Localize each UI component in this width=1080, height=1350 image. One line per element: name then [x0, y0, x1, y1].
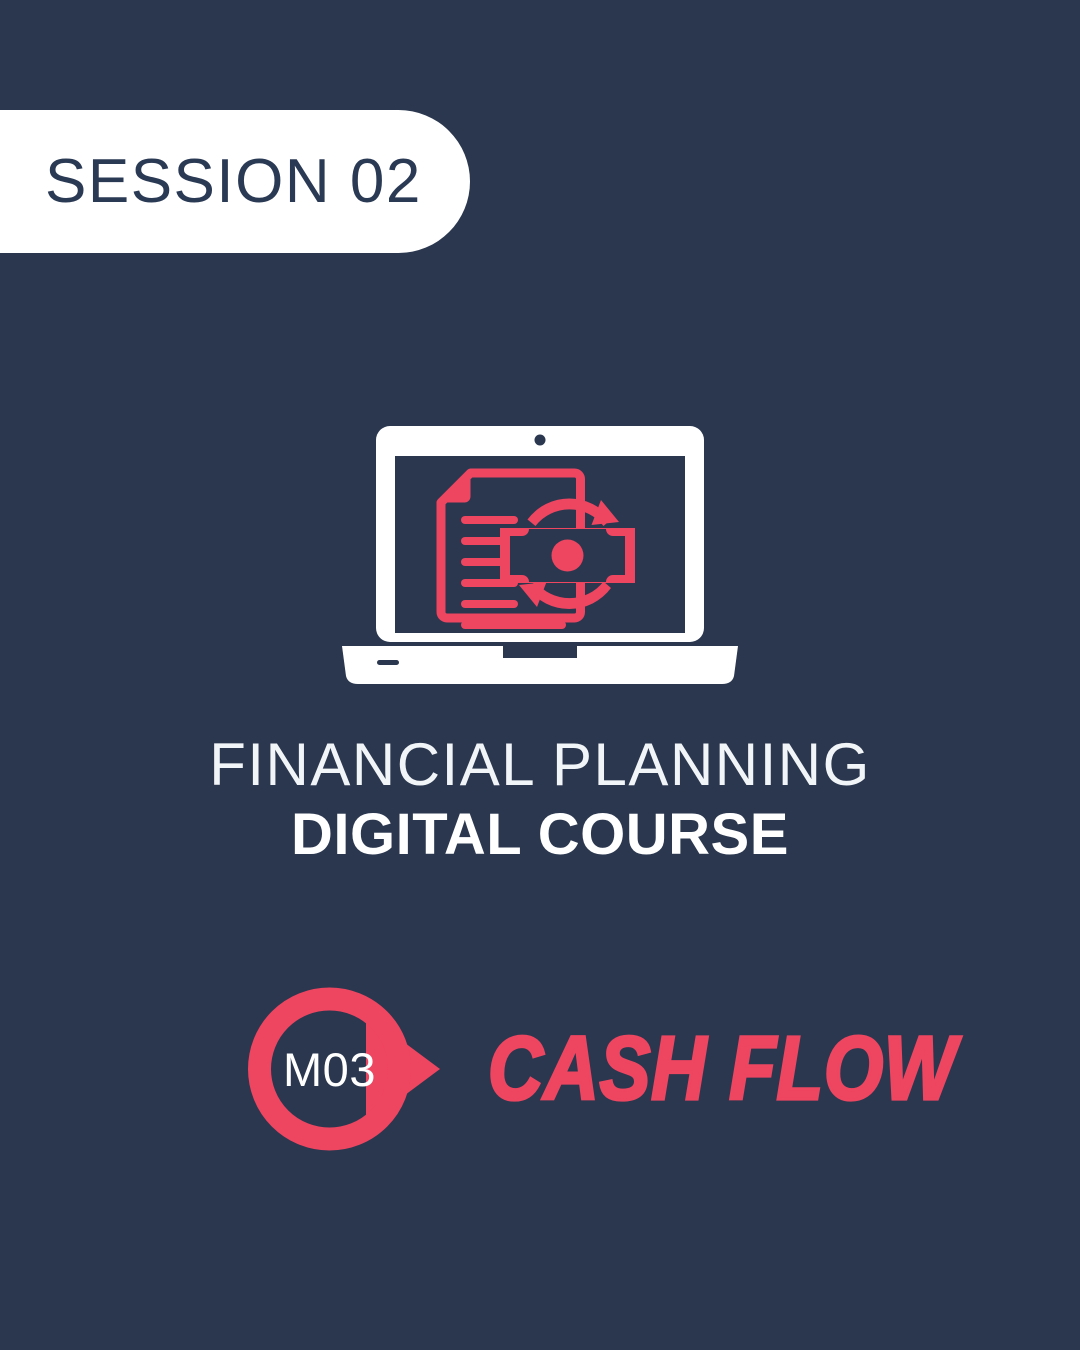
module-logo-lockup: M03 CASH FLOW: [248, 984, 868, 1154]
slide-canvas: SESSION 02: [0, 0, 1080, 1350]
cash-flow-wordmark: CASH FLOW: [488, 1024, 957, 1114]
page-title-line2: DIGITAL COURSE: [0, 798, 1080, 872]
laptop-cash-flow-icon: [320, 412, 760, 690]
heading-block: FINANCIAL PLANNING DIGITAL COURSE: [0, 733, 1080, 872]
module-badge: M03: [248, 984, 448, 1154]
banknote: [500, 528, 635, 583]
module-code-label: M03: [248, 984, 411, 1154]
page-title-line1: FINANCIAL PLANNING: [0, 733, 1080, 798]
session-badge-label: SESSION 02: [45, 151, 422, 213]
webcam-dot: [535, 435, 546, 446]
session-badge: SESSION 02: [0, 110, 470, 253]
